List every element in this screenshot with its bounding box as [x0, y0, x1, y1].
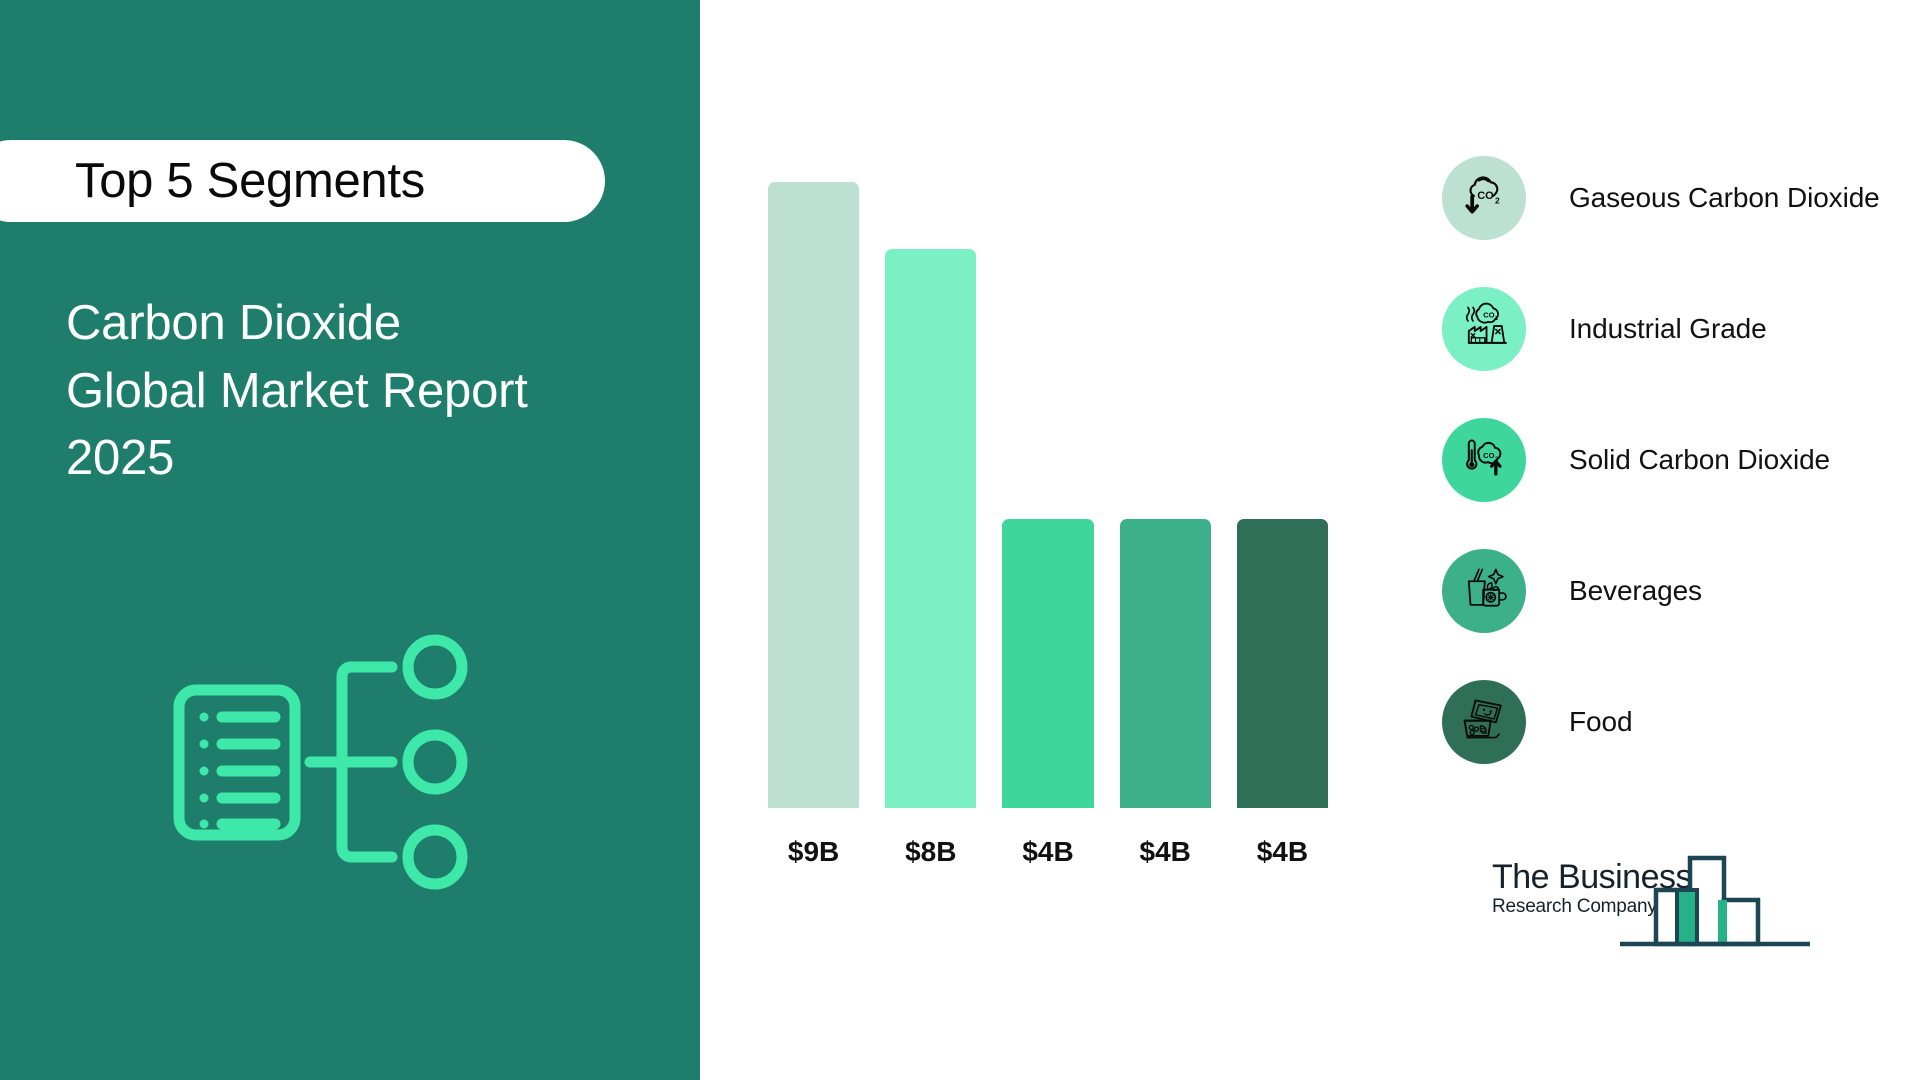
legend-swatch-4 — [1442, 549, 1526, 633]
left-panel: Top 5 Segments Carbon Dioxide Global Mar… — [0, 0, 700, 1080]
svg-text:CO: CO — [1483, 451, 1494, 460]
bar-column: $4B — [1237, 118, 1328, 868]
legend-item-industrial-grade: CO 2 Indust — [1442, 263, 1912, 394]
bar-value-label-2: $8B — [905, 836, 956, 868]
page-title-line-1: Carbon Dioxide — [66, 290, 651, 358]
bar-column: $8B — [885, 118, 976, 868]
bar-rect-2 — [885, 249, 976, 808]
legend-label-5: Food — [1569, 706, 1632, 738]
bar-chart: $9B $8B $4B $4B $4B — [700, 0, 1420, 1080]
co2-cloud-thermometer-up-arrow-icon: CO 2 — [1457, 430, 1511, 489]
food-container-icon — [1457, 692, 1511, 751]
bar-rect-1 — [768, 182, 859, 808]
svg-text:2: 2 — [1495, 195, 1500, 205]
chart-legend: CO 2 Gaseous Carbon Dioxide CO 2 — [1442, 132, 1912, 787]
bar-column: $9B — [768, 118, 859, 868]
bar-rect-3 — [1002, 519, 1093, 808]
legend-item-solid-carbon-dioxide: CO 2 Solid Carbon Dioxide — [1442, 394, 1912, 525]
legend-label-2: Industrial Grade — [1569, 313, 1767, 345]
document-branching-nodes-icon — [170, 612, 490, 912]
top-segments-badge: Top 5 Segments — [0, 140, 605, 222]
legend-label-4: Beverages — [1569, 575, 1702, 607]
bar-value-label-1: $9B — [788, 836, 839, 868]
legend-item-beverages: Beverages — [1442, 525, 1912, 656]
legend-swatch-5 — [1442, 680, 1526, 764]
bar-rect-4 — [1120, 519, 1211, 808]
page-title-line-2: Global Market Report — [66, 358, 651, 426]
svg-text:CO: CO — [1483, 311, 1494, 320]
legend-label-3: Solid Carbon Dioxide — [1569, 444, 1830, 476]
bar-value-label-3: $4B — [1022, 836, 1073, 868]
bar-value-label-4: $4B — [1140, 836, 1191, 868]
company-logo: The Business Research Company — [1492, 838, 1822, 950]
factory-co2-icon: CO 2 — [1457, 299, 1511, 358]
legend-swatch-3: CO 2 — [1442, 418, 1526, 502]
page-title: Carbon Dioxide Global Market Report 2025 — [66, 290, 651, 493]
legend-label-1: Gaseous Carbon Dioxide — [1569, 182, 1880, 214]
co2-cloud-down-arrow-icon: CO 2 — [1457, 168, 1511, 227]
legend-swatch-1: CO 2 — [1442, 156, 1526, 240]
legend-swatch-2: CO 2 — [1442, 287, 1526, 371]
svg-text:CO: CO — [1477, 190, 1494, 202]
bar-rect-5 — [1237, 519, 1328, 808]
page-title-line-3: 2025 — [66, 425, 651, 493]
drinks-glass-mug-icon — [1457, 561, 1511, 620]
legend-item-food: Food — [1442, 656, 1912, 787]
bar-column: $4B — [1002, 118, 1093, 868]
bar-value-label-5: $4B — [1257, 836, 1308, 868]
bar-chart-bars: $9B $8B $4B $4B $4B — [768, 118, 1328, 868]
badge-label: Top 5 Segments — [75, 153, 425, 209]
legend-item-gaseous-carbon-dioxide: CO 2 Gaseous Carbon Dioxide — [1442, 132, 1912, 263]
bar-column: $4B — [1120, 118, 1211, 868]
